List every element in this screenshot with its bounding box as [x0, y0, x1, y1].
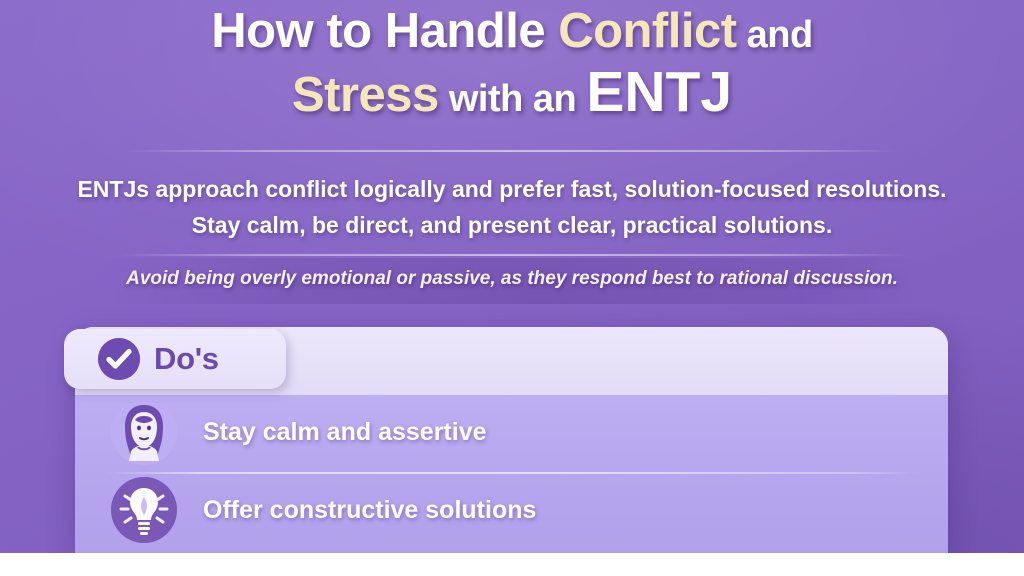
list-item-label: Stay calm and assertive: [203, 418, 487, 447]
title-text-how-to-handle: How to Handle: [211, 4, 558, 58]
list-item[interactable]: Stay calm and assertive: [75, 395, 948, 469]
title-text-and: and: [737, 14, 813, 56]
divider-above-note: [118, 254, 908, 256]
person-face-icon: [111, 399, 177, 465]
title-accent-stress: Stress: [292, 68, 439, 122]
tab-dos[interactable]: Do's: [64, 329, 286, 389]
note-text: Avoid being overly emotional or passive,…: [62, 268, 962, 290]
title-line-1: How to Handle Conflict and: [0, 6, 1024, 57]
lightbulb-icon: [111, 477, 177, 543]
title-accent-conflict: Conflict: [558, 4, 736, 58]
subtitle-line-2: Stay calm, be direct, and present clear,…: [62, 208, 962, 244]
list-item-label: Offer constructive solutions: [203, 496, 536, 525]
check-circle-icon: [98, 338, 140, 380]
tab-dos-label: Do's: [154, 341, 219, 377]
title-text-entj: ENTJ: [586, 60, 732, 124]
bottom-white-strip: [0, 553, 1024, 576]
subtitle-block: ENTJs approach conflict logically and pr…: [62, 172, 962, 243]
slide-root: How to Handle Conflict and Stress with a…: [0, 0, 1024, 576]
title-text-with-an: with an: [439, 78, 587, 120]
divider-under-title: [126, 150, 898, 152]
title-line-2: Stress with an ENTJ: [0, 63, 1024, 123]
subtitle-line-1: ENTJs approach conflict logically and pr…: [62, 172, 962, 208]
page-title: How to Handle Conflict and Stress with a…: [0, 6, 1024, 123]
list-item[interactable]: Offer constructive solutions: [75, 473, 948, 547]
